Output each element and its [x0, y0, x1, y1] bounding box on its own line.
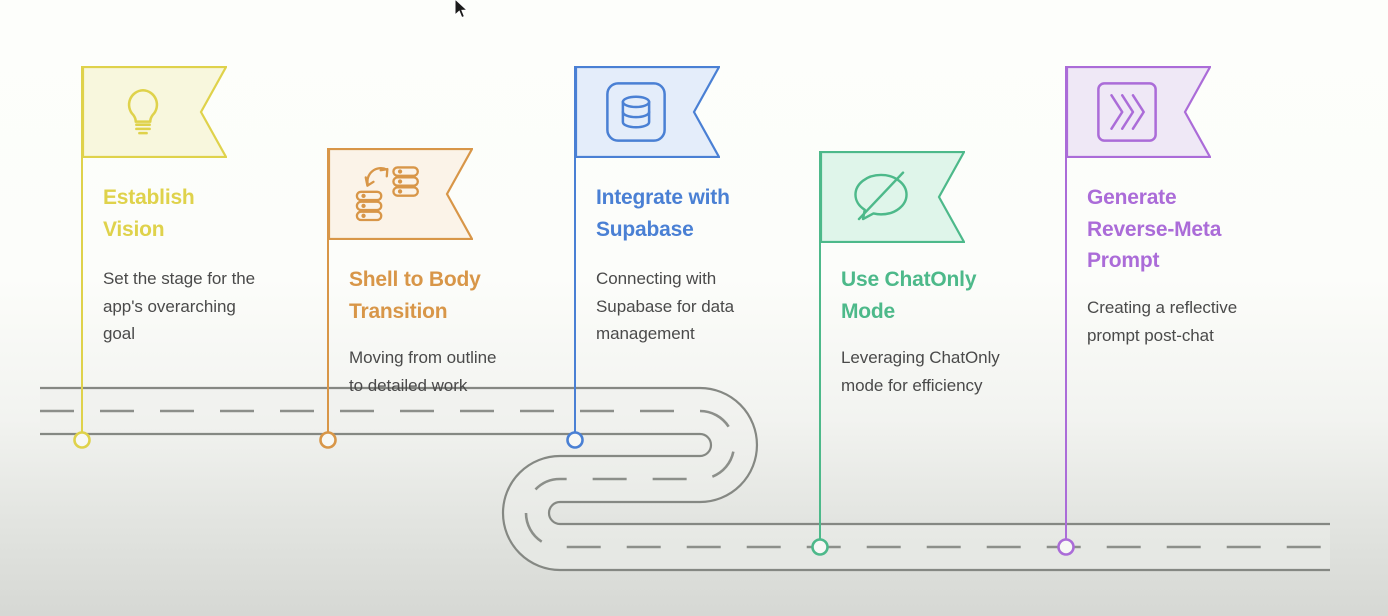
server-sync-icon — [353, 163, 425, 225]
roadmap-diagram: Establish VisionSet the stage for the ap… — [0, 0, 1388, 616]
chevrons-right-icon — [1066, 66, 1187, 158]
milestone-flag[interactable] — [328, 148, 473, 240]
lightbulb-icon — [82, 66, 203, 158]
server-sync-icon — [328, 148, 449, 240]
milestone-flag[interactable] — [820, 151, 965, 243]
database-icon — [575, 66, 696, 158]
milestone-flag[interactable] — [575, 66, 720, 158]
database-icon — [605, 81, 667, 143]
chat-bubble-off-icon — [847, 168, 915, 226]
chevrons-right-icon — [1096, 81, 1158, 143]
chat-bubble-off-icon — [820, 151, 941, 243]
lightbulb-icon — [114, 83, 172, 141]
milestone-flag[interactable] — [82, 66, 227, 158]
milestone-flag[interactable] — [1066, 66, 1211, 158]
